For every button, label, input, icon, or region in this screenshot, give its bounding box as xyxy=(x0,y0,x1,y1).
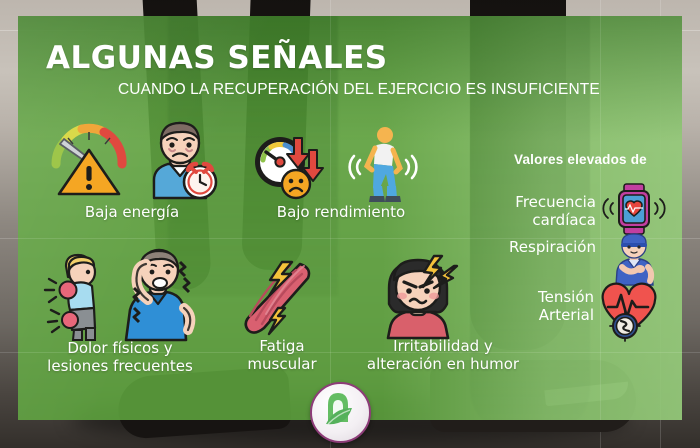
neck-pain-person-icon xyxy=(104,248,196,342)
smartwatch-heartrate-icon xyxy=(604,183,662,235)
sign-label-line2: lesiones frecuentes xyxy=(20,357,220,375)
sign-label-irritabilidad: Irritabilidad y alteración en humor xyxy=(348,337,538,373)
sign-label-fatiga-muscular: Fatiga muscular xyxy=(222,337,342,373)
page-title: ALGUNAS SEÑALES xyxy=(46,40,388,76)
sign-label-line1: Fatiga xyxy=(222,337,342,355)
elevated-value-line1: Frecuencia xyxy=(500,193,596,211)
sign-label-line1: Irritabilidad y xyxy=(348,337,538,355)
elevated-values-heading: Valores elevados de xyxy=(514,152,647,167)
sign-label-dolor-fisico: Dolor físicos y lesiones frecuentes xyxy=(20,339,220,375)
sign-label-baja-energia: Baja energía xyxy=(52,203,212,221)
brand-logo[interactable] xyxy=(310,382,371,443)
panel-faint-line xyxy=(600,16,601,420)
elevated-value-label-tension-arterial: Tensión Arterial xyxy=(498,288,594,324)
sign-label-line1: Dolor físicos y xyxy=(20,339,220,357)
elevated-value-label-respiracion: Respiración xyxy=(500,238,596,256)
breathing-person-icon xyxy=(610,233,658,285)
elevated-value-line1: Respiración xyxy=(500,238,596,256)
infographic-canvas: ALGUNAS SEÑALES CUANDO LA RECUPERACIÓN D… xyxy=(0,0,700,448)
sign-label-line2: muscular xyxy=(222,355,342,373)
elevated-value-line1: Tensión xyxy=(498,288,594,306)
muscle-lightning-icon xyxy=(238,256,320,340)
heart-pulse-bp-icon xyxy=(598,282,660,338)
exhausted-person-icon xyxy=(344,126,418,204)
speedometer-down-sad-icon xyxy=(254,134,324,200)
gauge-warning-icon xyxy=(48,118,134,198)
elevated-value-label-frecuencia-cardiaca: Frecuencia cardíaca xyxy=(500,193,596,229)
sign-label-line2: alteración en humor xyxy=(348,355,538,373)
sign-label-bajo-rendimiento: Bajo rendimiento xyxy=(251,203,431,221)
angry-person-lightning-icon xyxy=(376,254,464,338)
elevated-value-line2: cardíaca xyxy=(500,211,596,229)
page-subtitle: CUANDO LA RECUPERACIÓN DEL EJERCICIO ES … xyxy=(118,81,600,99)
elevated-value-line2: Arterial xyxy=(498,306,594,324)
back-pain-person-icon xyxy=(38,252,108,342)
tired-person-alarmclock-icon xyxy=(140,120,222,200)
